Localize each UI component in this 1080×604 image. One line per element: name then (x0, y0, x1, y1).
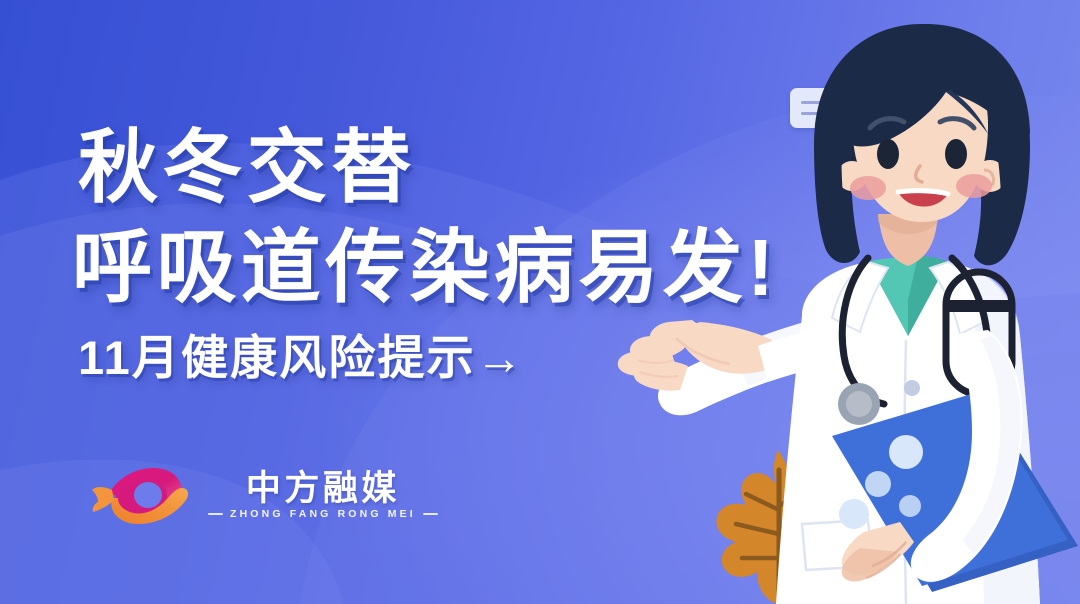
brand-logo[interactable]: 中方融媒 ZHONG FANG RONG MEI (86, 462, 438, 528)
brand-name-pinyin: ZHONG FANG RONG MEI (230, 509, 416, 520)
headline-block: 秋冬交替 呼吸道传染病易发! 11月健康风险提示→ (72, 128, 778, 381)
headline-line-2: 呼吸道传染病易发! (72, 228, 778, 308)
headline-line-3[interactable]: 11月健康风险提示→ (78, 334, 778, 381)
headline-line-1: 秋冬交替 (78, 128, 778, 208)
pinyin-rule-left (208, 513, 223, 515)
pinyin-rule-right (423, 513, 438, 515)
fish-eye-logo-mark-icon (86, 462, 194, 528)
brand-logo-text: 中方融媒 ZHONG FANG RONG MEI (208, 471, 438, 520)
brand-pinyin-row: ZHONG FANG RONG MEI (208, 509, 438, 520)
brand-name-cn: 中方融媒 (246, 471, 400, 506)
poster-canvas: 秋冬交替 呼吸道传染病易发! 11月健康风险提示→ (0, 0, 1080, 604)
